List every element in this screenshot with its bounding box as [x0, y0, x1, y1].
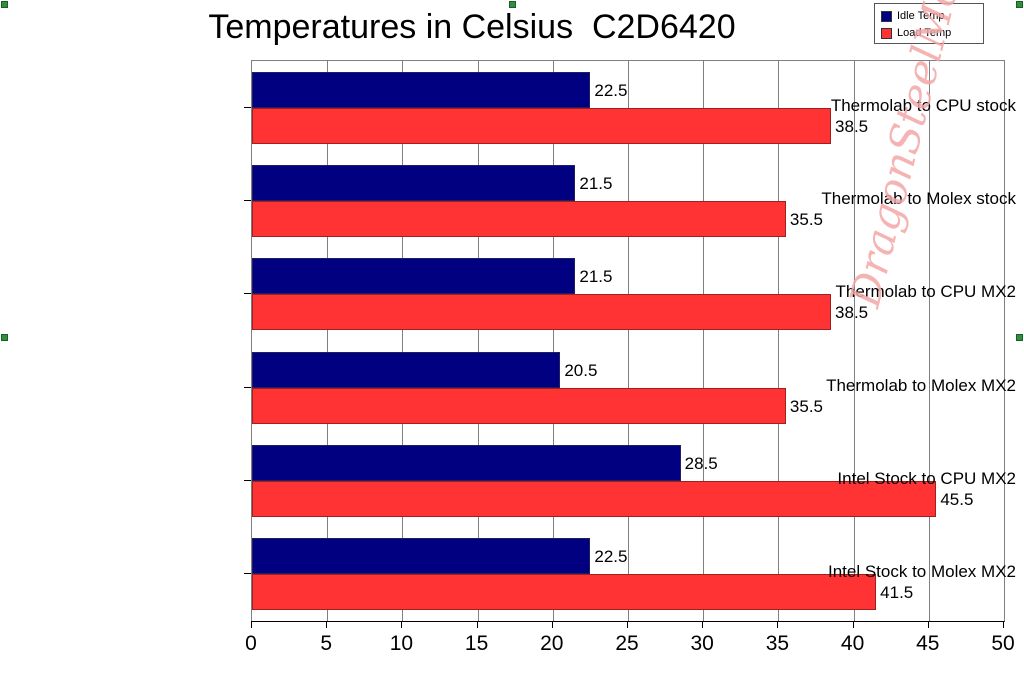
legend-label-idle-temp: Idle Temp — [897, 10, 945, 22]
bar-value-label: 21.5 — [579, 175, 612, 192]
y-axis-tick — [244, 200, 251, 201]
y-axis-tick — [244, 573, 251, 574]
y-axis-label: Intel Stock to Molex MX2 — [775, 562, 1024, 582]
bar-load[interactable] — [252, 294, 831, 330]
x-axis-tick-label: 40 — [841, 632, 864, 656]
gridline — [553, 61, 554, 621]
x-axis-tick — [1003, 621, 1004, 628]
x-axis-tick-label: 10 — [390, 632, 413, 656]
x-axis-tick-label: 20 — [540, 632, 563, 656]
x-axis-tick — [853, 621, 854, 628]
x-axis-tick-label: 0 — [245, 632, 257, 656]
bar-load[interactable] — [252, 108, 831, 144]
bar-idle[interactable] — [252, 72, 590, 108]
bar-value-label: 35.5 — [790, 211, 823, 228]
y-axis-tick — [244, 387, 251, 388]
x-axis-tick-label: 45 — [916, 632, 939, 656]
gridline — [628, 61, 629, 621]
bar-idle[interactable] — [252, 352, 560, 388]
bar-value-label: 21.5 — [579, 268, 612, 285]
x-axis-tick-label: 5 — [320, 632, 332, 656]
x-axis-tick-label: 15 — [465, 632, 488, 656]
bar-idle[interactable] — [252, 445, 681, 481]
gridline — [327, 61, 328, 621]
x-axis-tick — [702, 621, 703, 628]
chart-title: Temperatures in Celsius C2D6420 — [0, 8, 1024, 47]
x-axis-tick-label: 35 — [766, 632, 789, 656]
bar-idle[interactable] — [252, 258, 575, 294]
bar-value-label: 38.5 — [835, 118, 868, 135]
y-axis-label: Thermolab to CPU MX2 — [775, 282, 1024, 302]
bar-value-label: 41.5 — [880, 584, 913, 601]
legend-swatch-idle-temp — [881, 11, 892, 22]
gridline — [402, 61, 403, 621]
legend-swatch-load-temp — [881, 28, 892, 39]
legend-item-idle-temp[interactable]: Idle Temp — [881, 8, 983, 24]
x-axis-tick — [477, 621, 478, 628]
chart-container: Temperatures in Celsius C2D6420 Idle Tem… — [0, 0, 1024, 674]
x-axis-tick — [777, 621, 778, 628]
y-axis-tick — [244, 107, 251, 108]
plot-area: 22.538.521.535.521.538.520.535.528.545.5… — [251, 60, 1005, 622]
bar-load[interactable] — [252, 388, 786, 424]
y-axis-label: Thermolab to Molex stock — [775, 189, 1024, 209]
y-axis-tick — [244, 480, 251, 481]
bar-value-label: 20.5 — [564, 362, 597, 379]
bar-idle[interactable] — [252, 165, 575, 201]
selection-handle-middle-right[interactable] — [1016, 334, 1023, 341]
y-axis-tick — [244, 293, 251, 294]
selection-handle-top-right[interactable] — [1016, 1, 1023, 8]
selection-handle-top-left[interactable] — [1, 1, 8, 8]
bar-value-label: 22.5 — [594, 548, 627, 565]
selection-handle-top-center[interactable] — [509, 1, 516, 8]
bar-load[interactable] — [252, 201, 786, 237]
gridline — [478, 61, 479, 621]
x-axis-tick — [326, 621, 327, 628]
bar-value-label: 38.5 — [835, 304, 868, 321]
y-axis-label: Thermolab to CPU stock — [775, 96, 1024, 116]
gridline — [778, 61, 779, 621]
x-axis-tick-label: 30 — [691, 632, 714, 656]
chart-legend: Idle Temp Load Temp — [874, 3, 984, 44]
y-axis-label: Thermolab to Molex MX2 — [775, 376, 1024, 396]
bar-value-label: 35.5 — [790, 398, 823, 415]
legend-label-load-temp: Load Temp — [897, 27, 951, 39]
x-axis-tick-label: 25 — [615, 632, 638, 656]
x-axis-tick — [251, 621, 252, 628]
gridline — [854, 61, 855, 621]
bar-value-label: 28.5 — [685, 455, 718, 472]
bar-idle[interactable] — [252, 538, 590, 574]
bar-value-label: 22.5 — [594, 82, 627, 99]
x-axis-tick — [627, 621, 628, 628]
x-axis-tick-label: 50 — [991, 632, 1014, 656]
x-axis-tick — [552, 621, 553, 628]
legend-item-load-temp[interactable]: Load Temp — [881, 25, 983, 41]
bar-value-label: 45.5 — [940, 491, 973, 508]
x-axis-tick — [928, 621, 929, 628]
x-axis-tick — [401, 621, 402, 628]
y-axis-label: Intel Stock to CPU MX2 — [775, 469, 1024, 489]
selection-handle-middle-left[interactable] — [1, 334, 8, 341]
gridline — [703, 61, 704, 621]
gridline — [929, 61, 930, 621]
